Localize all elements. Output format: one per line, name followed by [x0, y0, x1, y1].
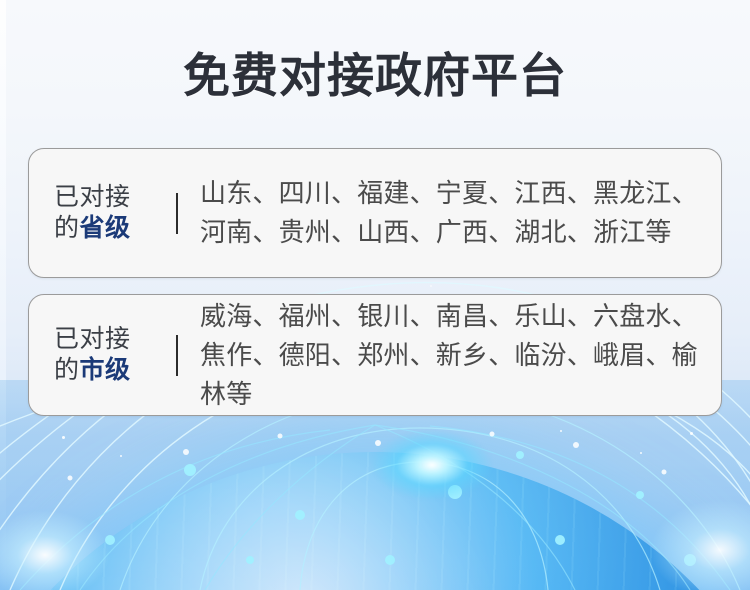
city-card: 已对接 的市级 威海、福州、银川、南昌、乐山、六盘水、焦作、德阳、郑州、新乡、临… [28, 294, 722, 416]
province-label-line2: 的省级 [54, 213, 166, 244]
province-label-prefix: 的 [54, 214, 80, 242]
city-label-line2: 的市级 [54, 355, 166, 386]
globe-graphic [0, 452, 750, 590]
province-list: 山东、四川、福建、宁夏、江西、黑龙江、河南、贵州、山西、广西、湖北、浙江等 [200, 174, 721, 252]
province-card: 已对接 的省级 山东、四川、福建、宁夏、江西、黑龙江、河南、贵州、山西、广西、湖… [28, 148, 722, 278]
city-list: 威海、福州、银川、南昌、乐山、六盘水、焦作、德阳、郑州、新乡、临汾、峨眉、榆林等 [200, 297, 721, 414]
globe-left-glow [0, 510, 110, 590]
globe-right-glow [650, 500, 750, 590]
globe-core-glow [372, 430, 492, 500]
province-card-divider [176, 193, 178, 234]
province-label-accent: 省级 [80, 214, 131, 242]
city-label-accent: 市级 [80, 356, 131, 384]
province-label-line1: 已对接 [54, 182, 166, 213]
page-title: 免费对接政府平台 [0, 48, 750, 104]
city-label-prefix: 的 [54, 356, 80, 384]
province-card-label: 已对接 的省级 [54, 182, 166, 244]
city-card-label: 已对接 的市级 [54, 324, 166, 386]
city-label-line1: 已对接 [54, 324, 166, 355]
promo-banner: 免费对接政府平台 已对接 的省级 山东、四川、福建、宁夏、江西、黑龙江、河南、贵… [0, 0, 750, 590]
city-card-divider [176, 335, 178, 376]
